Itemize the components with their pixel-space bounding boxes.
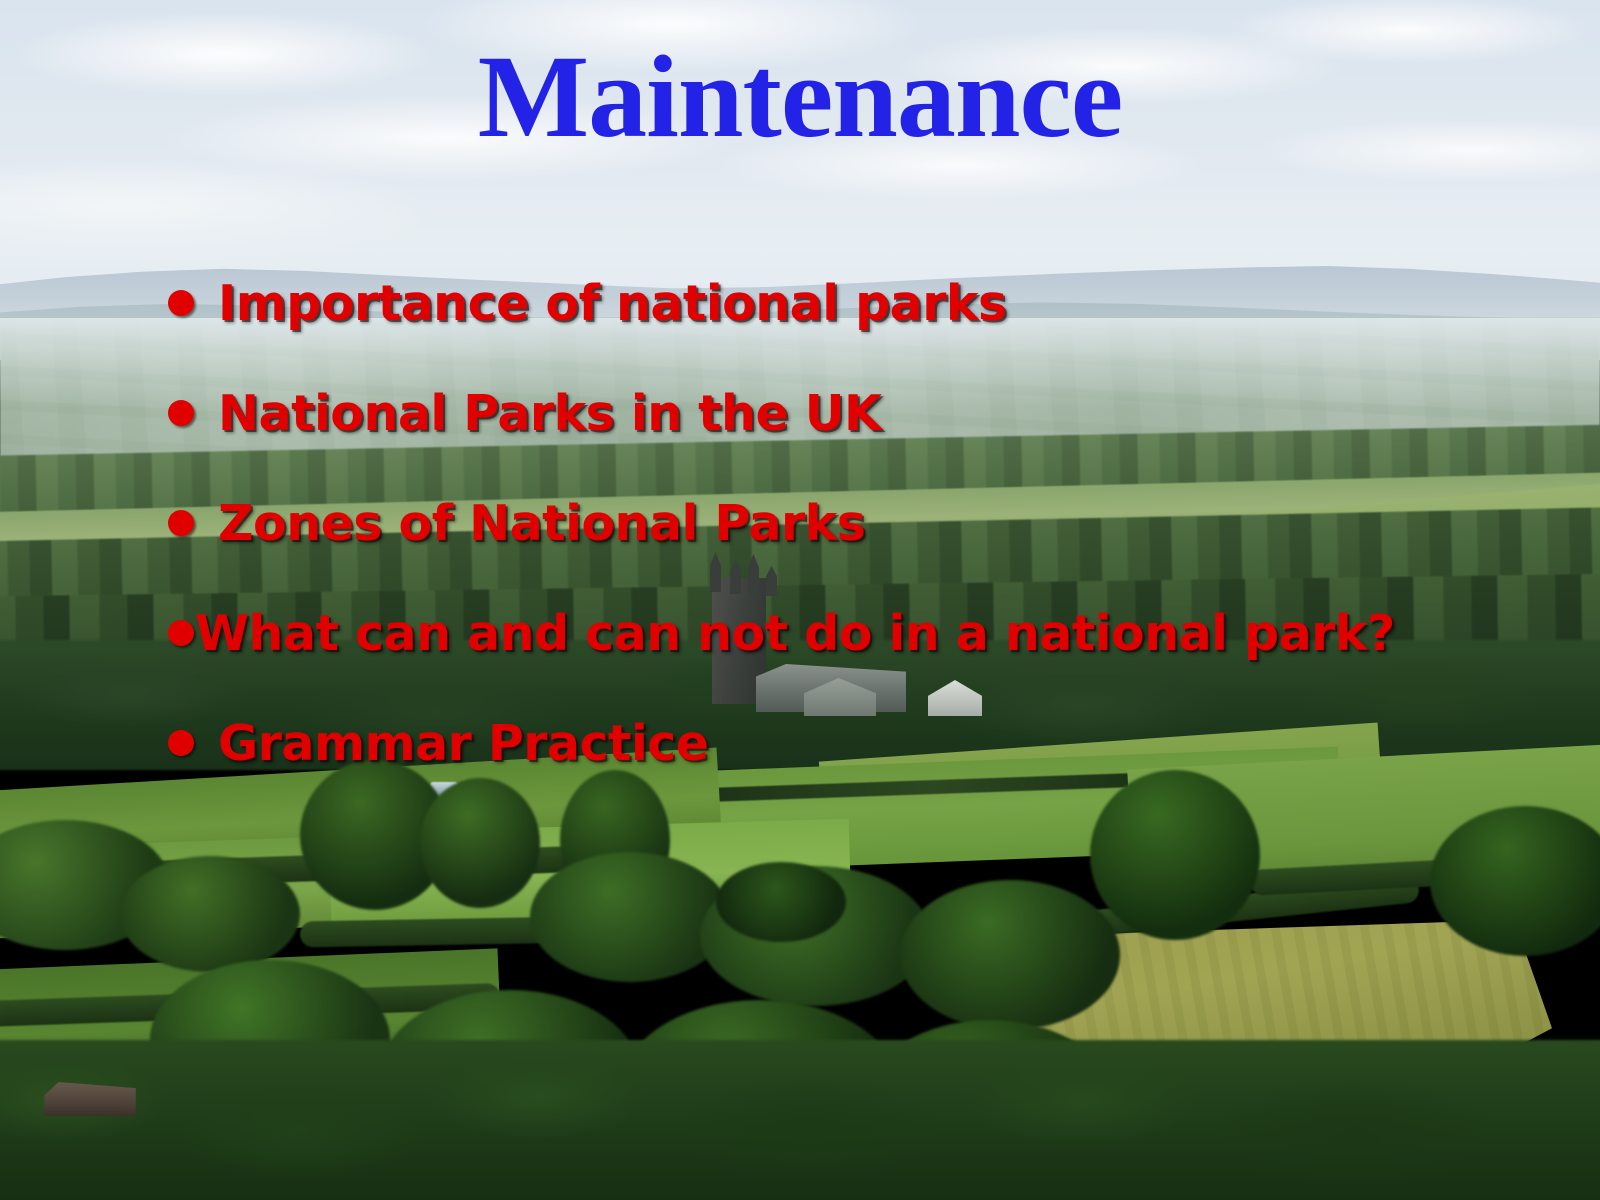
bullet-item-2: National Parks in the UK <box>168 358 1568 468</box>
bullet-text: Zones of National Parks <box>218 495 865 552</box>
bullet-text: What can and can not do in a national pa… <box>195 605 1395 662</box>
bullet-dot-icon <box>168 620 194 646</box>
slide-title: Maintenance <box>0 38 1600 156</box>
bullet-item-1: Importance of national parks <box>168 248 1568 358</box>
bullet-text: Importance of national parks <box>218 275 1007 332</box>
bullet-item-5: Grammar Practice <box>168 688 1568 798</box>
bullet-list: Importance of national parks National Pa… <box>168 248 1568 798</box>
bullet-text: Grammar Practice <box>218 715 709 772</box>
presentation-slide: Maintenance Importance of national parks… <box>0 0 1600 1200</box>
bullet-dot-icon <box>168 290 194 316</box>
bullet-dot-icon <box>168 400 194 426</box>
bullet-dot-icon <box>168 730 194 756</box>
bullet-text: National Parks in the UK <box>218 385 882 442</box>
bullet-dot-icon <box>168 510 194 536</box>
bullet-item-3: Zones of National Parks <box>168 468 1568 578</box>
bullet-item-4: What can and can not do in a national pa… <box>168 578 1568 688</box>
slide-content: Maintenance Importance of national parks… <box>0 0 1600 1200</box>
